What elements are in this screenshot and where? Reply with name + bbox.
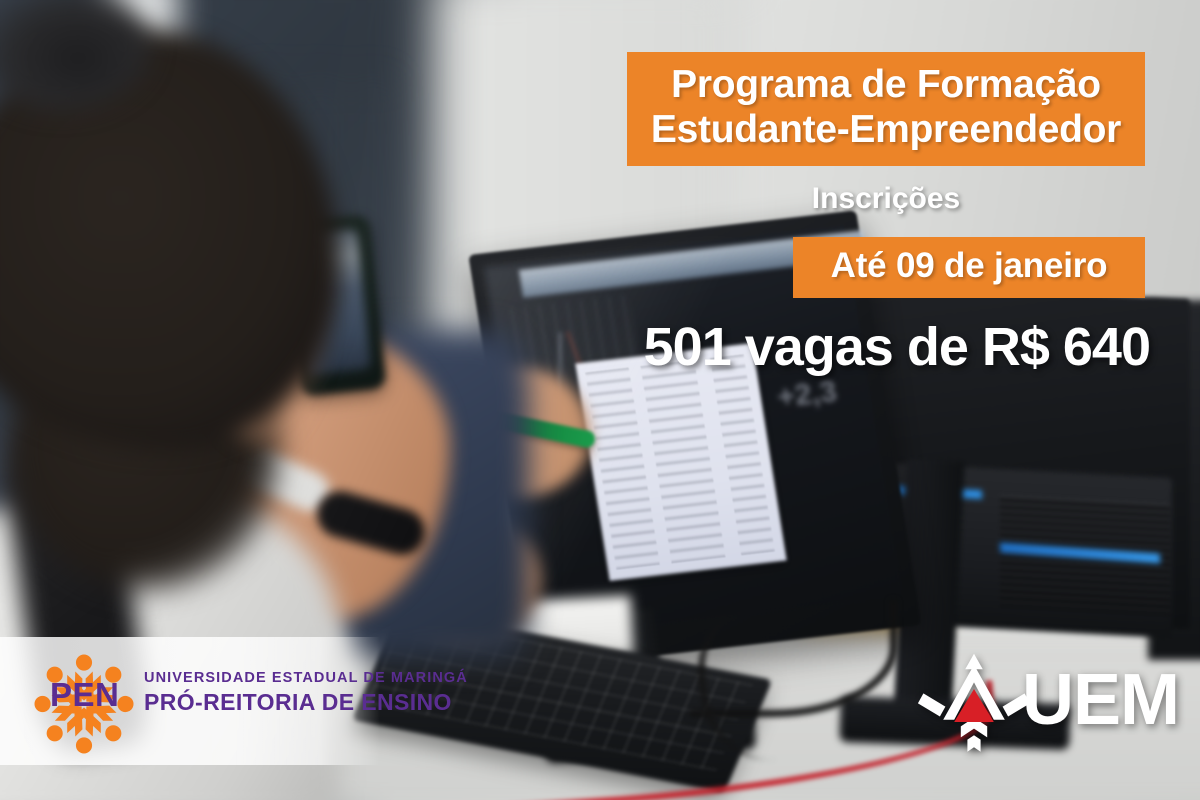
- uem-triangle-icon: [918, 645, 1030, 755]
- subtitle-inscricoes: Inscrições: [627, 182, 1145, 216]
- pen-department-line: PRÓ-REITORIA DE ENSINO: [144, 689, 468, 716]
- poster-canvas: +2,3 Programa de Form: [0, 0, 1200, 800]
- headline-vagas: 501 vagas de R$ 640: [500, 316, 1150, 378]
- title-line-1: Programa de Formação: [627, 62, 1145, 107]
- title-line-2: Estudante-Empreendedor: [627, 107, 1145, 152]
- date-badge: Até 09 de janeiro: [793, 237, 1145, 298]
- uem-wordmark: UEM: [1022, 664, 1179, 736]
- pen-university-line: UNIVERSIDADE ESTADUAL DE MARINGÁ: [144, 670, 468, 686]
- pen-logo-text: UNIVERSIDADE ESTADUAL DE MARINGÁ PRÓ-REI…: [144, 670, 468, 716]
- pen-acronym: PEN: [50, 676, 119, 714]
- date-badge-label: Até 09 de janeiro: [831, 246, 1108, 285]
- title-banner: Programa de Formação Estudante-Empreende…: [627, 52, 1145, 166]
- uem-logo: UEM: [918, 645, 1179, 755]
